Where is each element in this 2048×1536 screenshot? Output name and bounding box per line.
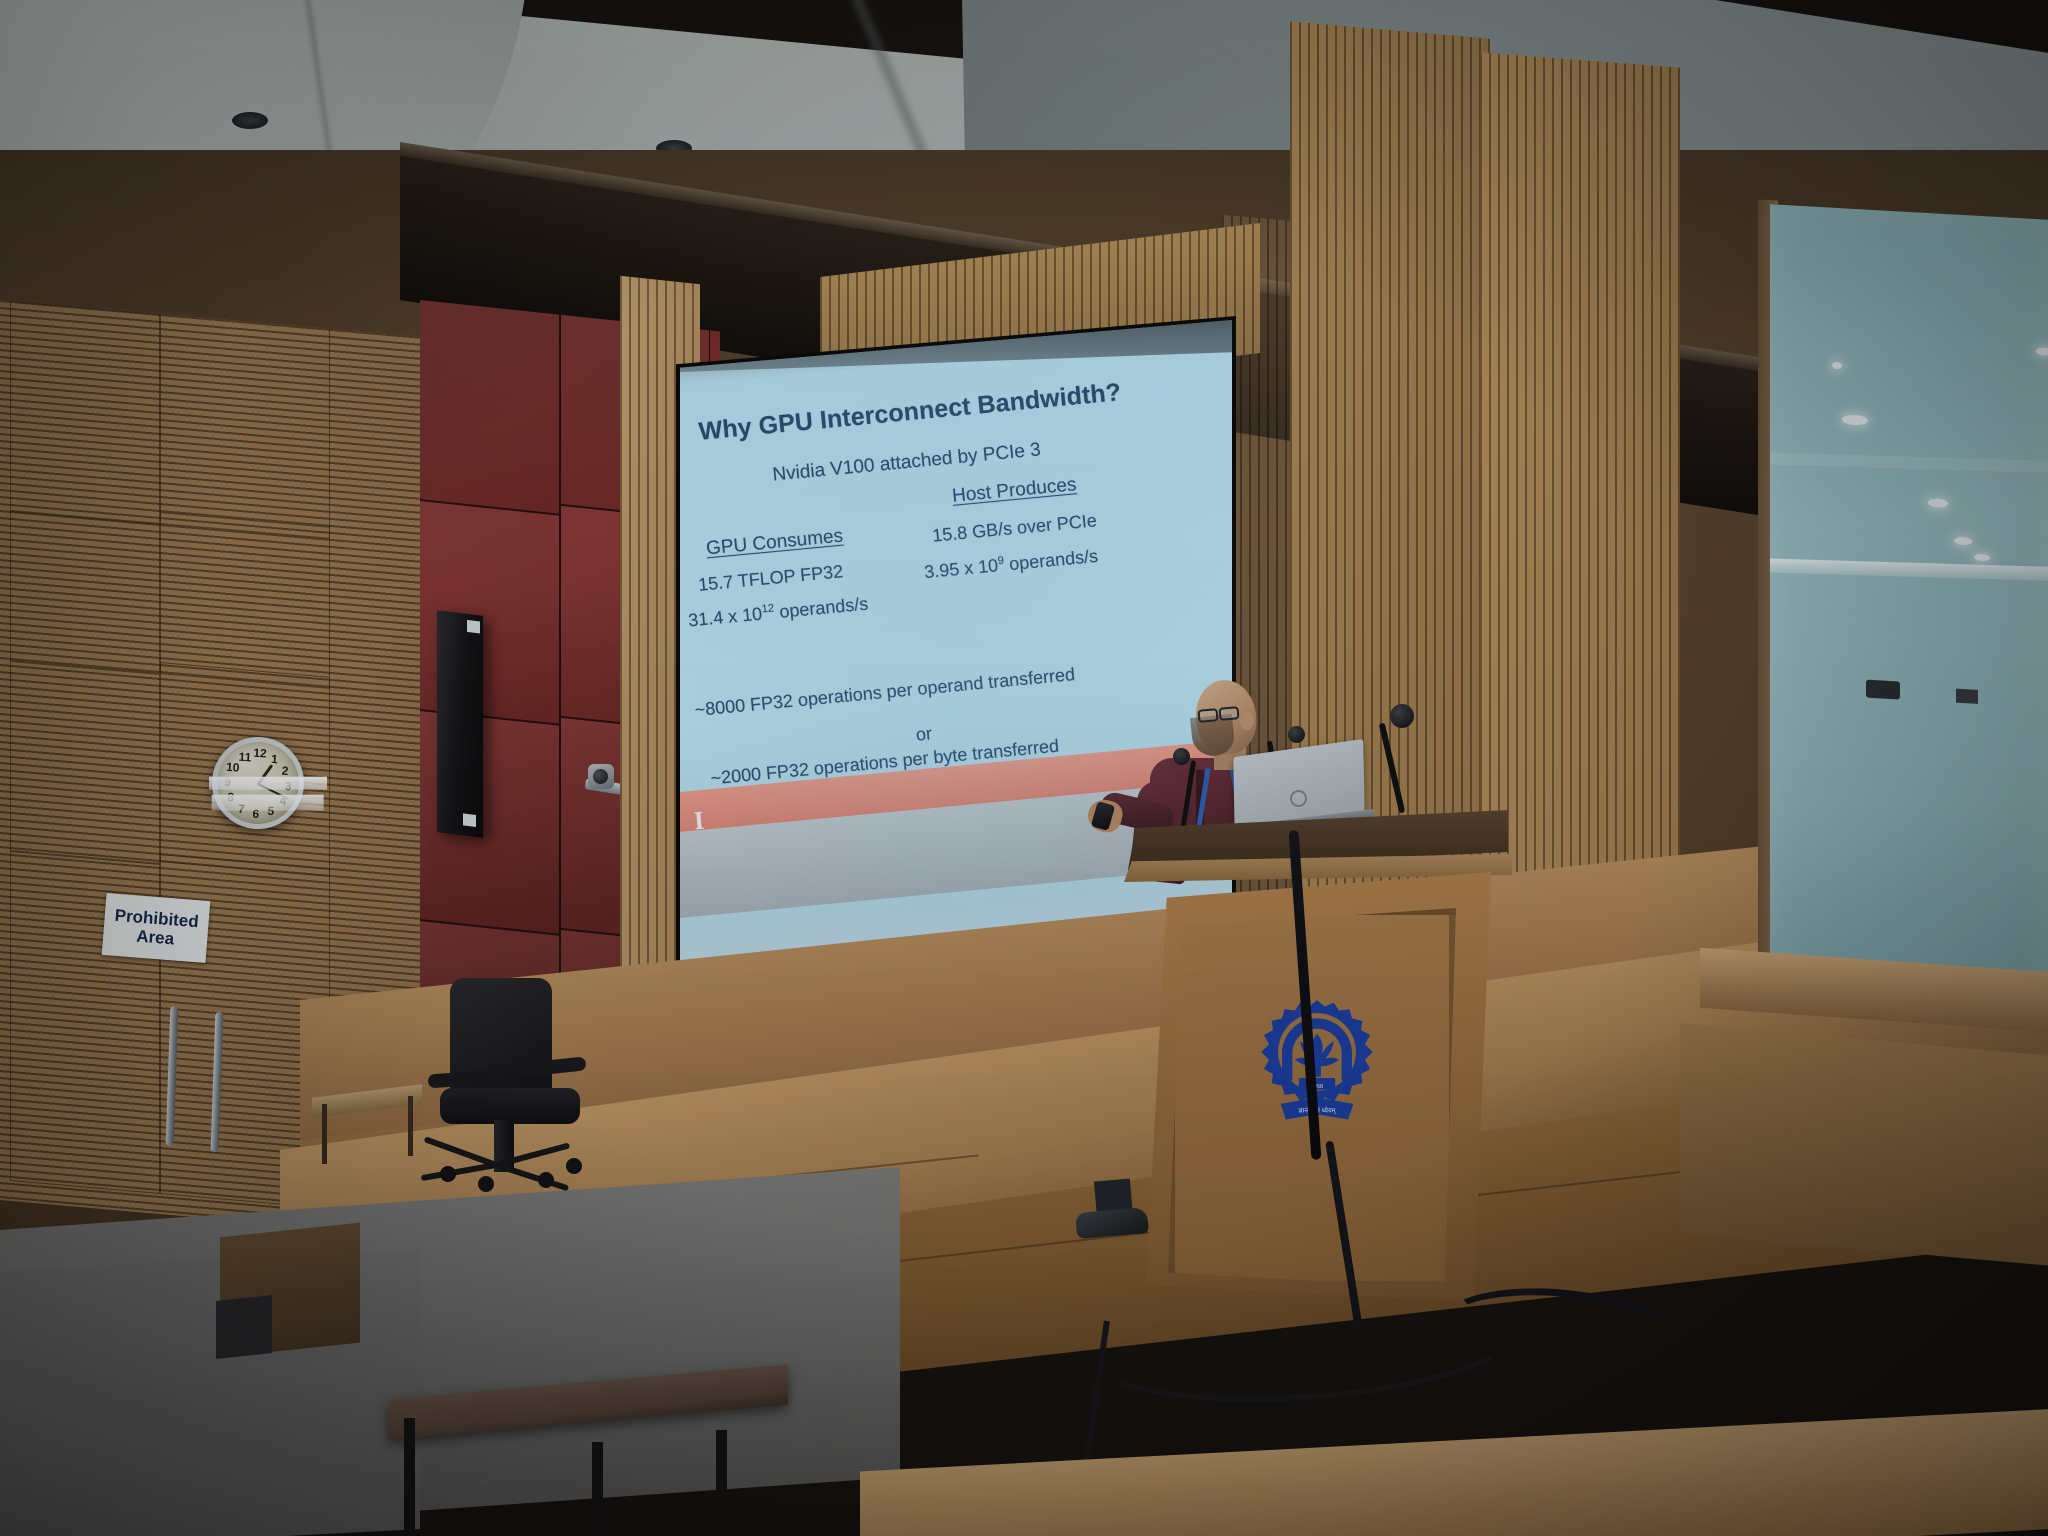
dell-logo-icon [1290,790,1307,807]
table-leg [592,1442,603,1536]
slide-col1-line2: 31.4 x 1012 operands/s [687,594,869,632]
podium-mic-head [1390,704,1414,728]
gooseneck-mic-right-head [1288,726,1305,743]
col2-line2-pre: 3.95 x 10 [923,555,999,582]
window-object-shadow [1956,689,1978,704]
slide-col2-heading: Host Produces [951,474,1077,508]
slide-col1-line1: 15.7 TFLOP FP32 [697,561,844,596]
glass-reflection [1928,498,1948,508]
table-leg [716,1430,727,1536]
sign-line-2: Area [136,927,175,949]
glass-reflection [1842,414,1868,425]
office-chair-caster [478,1176,494,1192]
clock-numeral: 12 [253,746,267,761]
camera-lens-icon [593,769,608,784]
col1-line2-post: operands/s [774,594,870,623]
clock-glare [212,795,324,811]
office-chair-backrest [450,978,552,1106]
side-table-leg [322,1104,327,1164]
glass-reflection [1832,362,1842,370]
window-object-shadow [1866,680,1900,700]
glass-light-strip [1770,559,2048,583]
office-chair-caster [440,1166,456,1182]
clock-numeral: 11 [238,749,252,764]
slide-conclusion-line-1: ~8000 FP32 operations per operand transf… [694,664,1076,721]
glasses-lens-left [1197,708,1218,723]
slide-col2-line2: 3.95 x 109 operands/s [923,546,1099,583]
gooseneck-mic-left-head [1173,748,1190,765]
office-chair-caster [538,1172,554,1188]
clock-glare [209,777,327,790]
glasses-lens-right [1218,706,1239,721]
slide-conclusion-or: or [915,723,933,745]
glass-reflection [1974,554,1990,562]
office-chair-caster [566,1158,582,1174]
glass-band [1770,453,2048,475]
lecture-hall-photo: Prohibited Area 12 1 2 3 4 5 6 7 8 9 10 … [0,0,2048,1536]
slide-col2-line1: 15.8 GB/s over PCIe [931,510,1097,546]
prohibited-area-sign: Prohibited Area [102,893,211,963]
podium: 1958 ज्ञानं परमं ध्येयम् [1128,810,1508,1310]
table-leg [404,1418,415,1536]
office-chair-seat [440,1088,580,1124]
side-table-leg [408,1096,413,1156]
slide-top-shadow [680,320,1232,372]
dark-box-object [216,1295,272,1359]
line-array-speaker [437,610,483,838]
col1-line2-pre: 31.4 x 10 [687,604,763,631]
ceiling-downlight-icon [232,112,268,129]
slide-subtitle: Nvidia V100 attached by PCIe 3 [772,439,1042,486]
frosted-glass-window [1770,204,2048,998]
wall-below-window [1680,1023,2048,1266]
slide-col1-heading: GPU Consumes [705,526,844,561]
glass-reflection [1954,537,1972,546]
col2-line2-post: operands/s [1003,546,1099,575]
front-bench-surface [860,1409,2048,1536]
presenter-ear [1240,712,1254,730]
slide-title: Why GPU Interconnect Bandwidth? [698,378,1123,447]
glass-reflection [2036,347,2048,356]
clock-numeral: 1 [271,751,279,765]
